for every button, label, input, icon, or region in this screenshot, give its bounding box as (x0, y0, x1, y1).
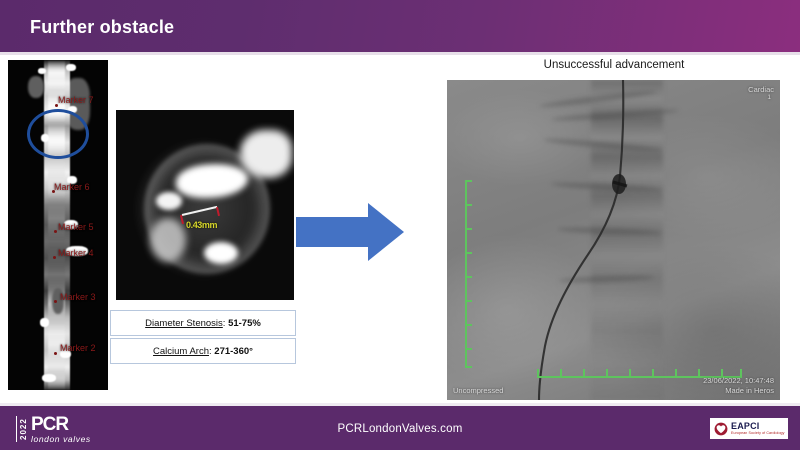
eapci-logo[interactable]: EAPCI European Society of Cardiology (710, 418, 788, 439)
ruler-tick (465, 366, 472, 368)
ct-longitudinal-view[interactable]: Marker 7 Marker 6 Marker 5 Marker 4 Mark… (8, 60, 108, 390)
ruler-tick (465, 228, 472, 230)
ruler-tick (629, 369, 631, 376)
arrow-right-icon (296, 201, 406, 263)
fluoro-overlay-series: 1 (767, 94, 771, 101)
footer-url[interactable]: PCRLondonValves.com (0, 423, 800, 435)
ct-marker-dot (54, 300, 57, 303)
ruler-tick (465, 276, 472, 278)
calcium-arch-label: Calcium Arch (153, 346, 209, 357)
ruler-tick (740, 369, 742, 376)
ct-tissue-shadow (28, 76, 44, 98)
diameter-stenosis-label: Diameter Stenosis (145, 318, 223, 329)
ruler-tick (675, 369, 677, 376)
ivus-calcium-plaque (150, 218, 186, 262)
vertical-ruler (465, 180, 467, 368)
ruler-tick (583, 369, 585, 376)
fluoro-overlay-brand: Made in Heros (725, 386, 774, 395)
ruler-tick (698, 369, 700, 376)
ct-marker-label-7: Marker 7 (58, 95, 94, 105)
eapci-name: EAPCI (731, 422, 785, 431)
page-title: Further obstacle (30, 17, 174, 38)
slide-header: Further obstacle (0, 0, 800, 52)
diameter-stenosis-value: 51-75% (228, 318, 261, 329)
ivus-cross-section[interactable]: 0.43mm (116, 110, 294, 300)
calcium-arch-value: 271-360° (214, 346, 253, 357)
diameter-stenosis-text: Diameter Stenosis: 51-75% (145, 318, 261, 329)
ct-marker-label-2: Marker 2 (60, 343, 96, 353)
slide-body: Marker 7 Marker 6 Marker 5 Marker 4 Mark… (0, 55, 800, 403)
ivus-calcium-plaque (240, 130, 292, 178)
fluoro-caption: Unsuccessful advancement (449, 59, 779, 71)
diameter-stenosis-box: Diameter Stenosis: 51-75% (110, 310, 296, 336)
ct-marker-label-5: Marker 5 (58, 222, 94, 232)
lumen-measurement-label: 0.43mm (186, 220, 217, 230)
ruler-tick (560, 369, 562, 376)
ruler-tick (465, 204, 472, 206)
ruler-tick (652, 369, 654, 376)
logo-subtitle: london valves (31, 435, 91, 444)
ruler-tick (465, 180, 472, 182)
fluoroscopy-image[interactable]: Cardiac 1 Uncompressed 23/06/2022, 10:47… (447, 80, 780, 400)
eapci-text-block: EAPCI European Society of Cardiology (731, 422, 785, 436)
ct-calcium-flake (42, 374, 56, 382)
progression-arrow (296, 201, 406, 263)
fluoro-overlay-modality: Cardiac (748, 85, 774, 94)
ruler-tick (465, 252, 472, 254)
calcium-arch-text: Calcium Arch: 271-360° (153, 346, 253, 357)
catheter-path (447, 80, 780, 400)
ct-marker-dot (53, 256, 56, 259)
ct-calcium-flake (66, 64, 76, 71)
ct-marker-label-6: Marker 6 (54, 182, 90, 192)
ruler-tick (465, 348, 472, 350)
calcium-arch-box: Calcium Arch: 271-360° (110, 338, 296, 364)
ruler-tick (721, 369, 723, 376)
heart-icon (714, 422, 728, 436)
ct-calcium-flake (38, 68, 46, 74)
ruler-tick (537, 369, 539, 376)
fluoro-overlay-compression: Uncompressed (453, 386, 503, 395)
ct-calcium-flake (40, 318, 49, 327)
ruler-tick (465, 300, 472, 302)
region-of-interest-ellipse (27, 109, 89, 159)
ct-marker-label-4: Marker 4 (58, 248, 94, 258)
ct-marker-label-3: Marker 3 (60, 292, 96, 302)
ivus-calcium-plaque (204, 242, 238, 264)
ct-marker-dot (54, 352, 57, 355)
ivus-calcium-plaque (156, 192, 182, 210)
ruler-tick (465, 324, 472, 326)
eapci-subtitle: European Society of Cardiology (731, 432, 785, 436)
fluoro-overlay-timestamp: 23/06/2022, 10:47:48 (703, 376, 774, 385)
ruler-tick (606, 369, 608, 376)
ct-marker-dot (54, 230, 57, 233)
slide-footer: 2022 PCR london valves PCRLondonValves.c… (0, 406, 800, 450)
